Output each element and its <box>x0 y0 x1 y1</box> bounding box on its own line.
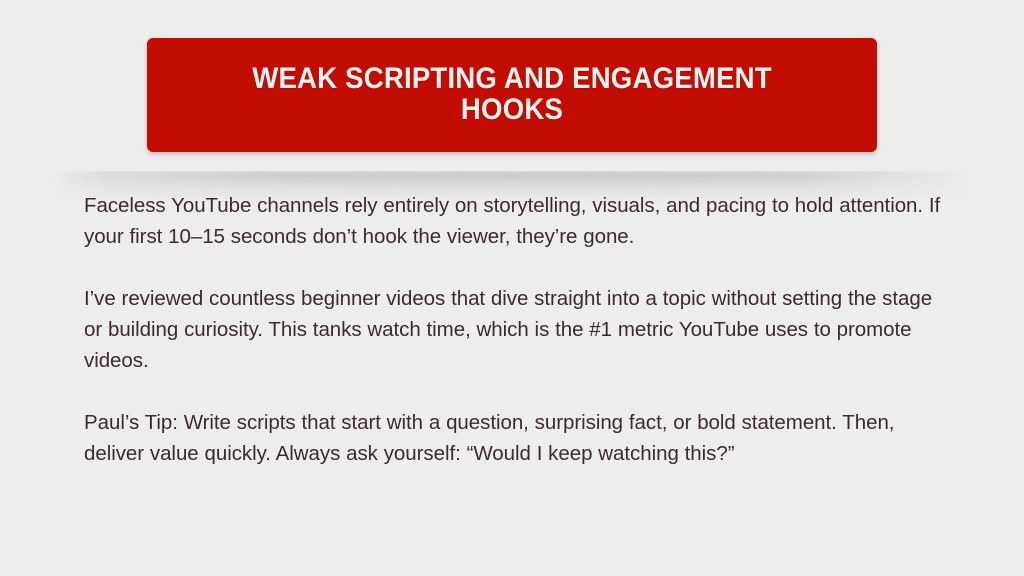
paragraph-spacer <box>84 376 946 407</box>
body-paragraph: Faceless YouTube channels rely entirely … <box>84 190 946 252</box>
body-paragraph: I’ve reviewed countless beginner videos … <box>84 283 946 376</box>
body-content: Faceless YouTube channels rely entirely … <box>84 190 946 469</box>
title-banner: WEAK SCRIPTING AND ENGAGEMENT HOOKS <box>147 38 877 152</box>
page-title: WEAK SCRIPTING AND ENGAGEMENT HOOKS <box>207 64 816 126</box>
slide-canvas: WEAK SCRIPTING AND ENGAGEMENT HOOKS Face… <box>0 0 1024 576</box>
body-paragraph: Paul’s Tip: Write scripts that start wit… <box>84 407 946 469</box>
paragraph-spacer <box>84 252 946 283</box>
